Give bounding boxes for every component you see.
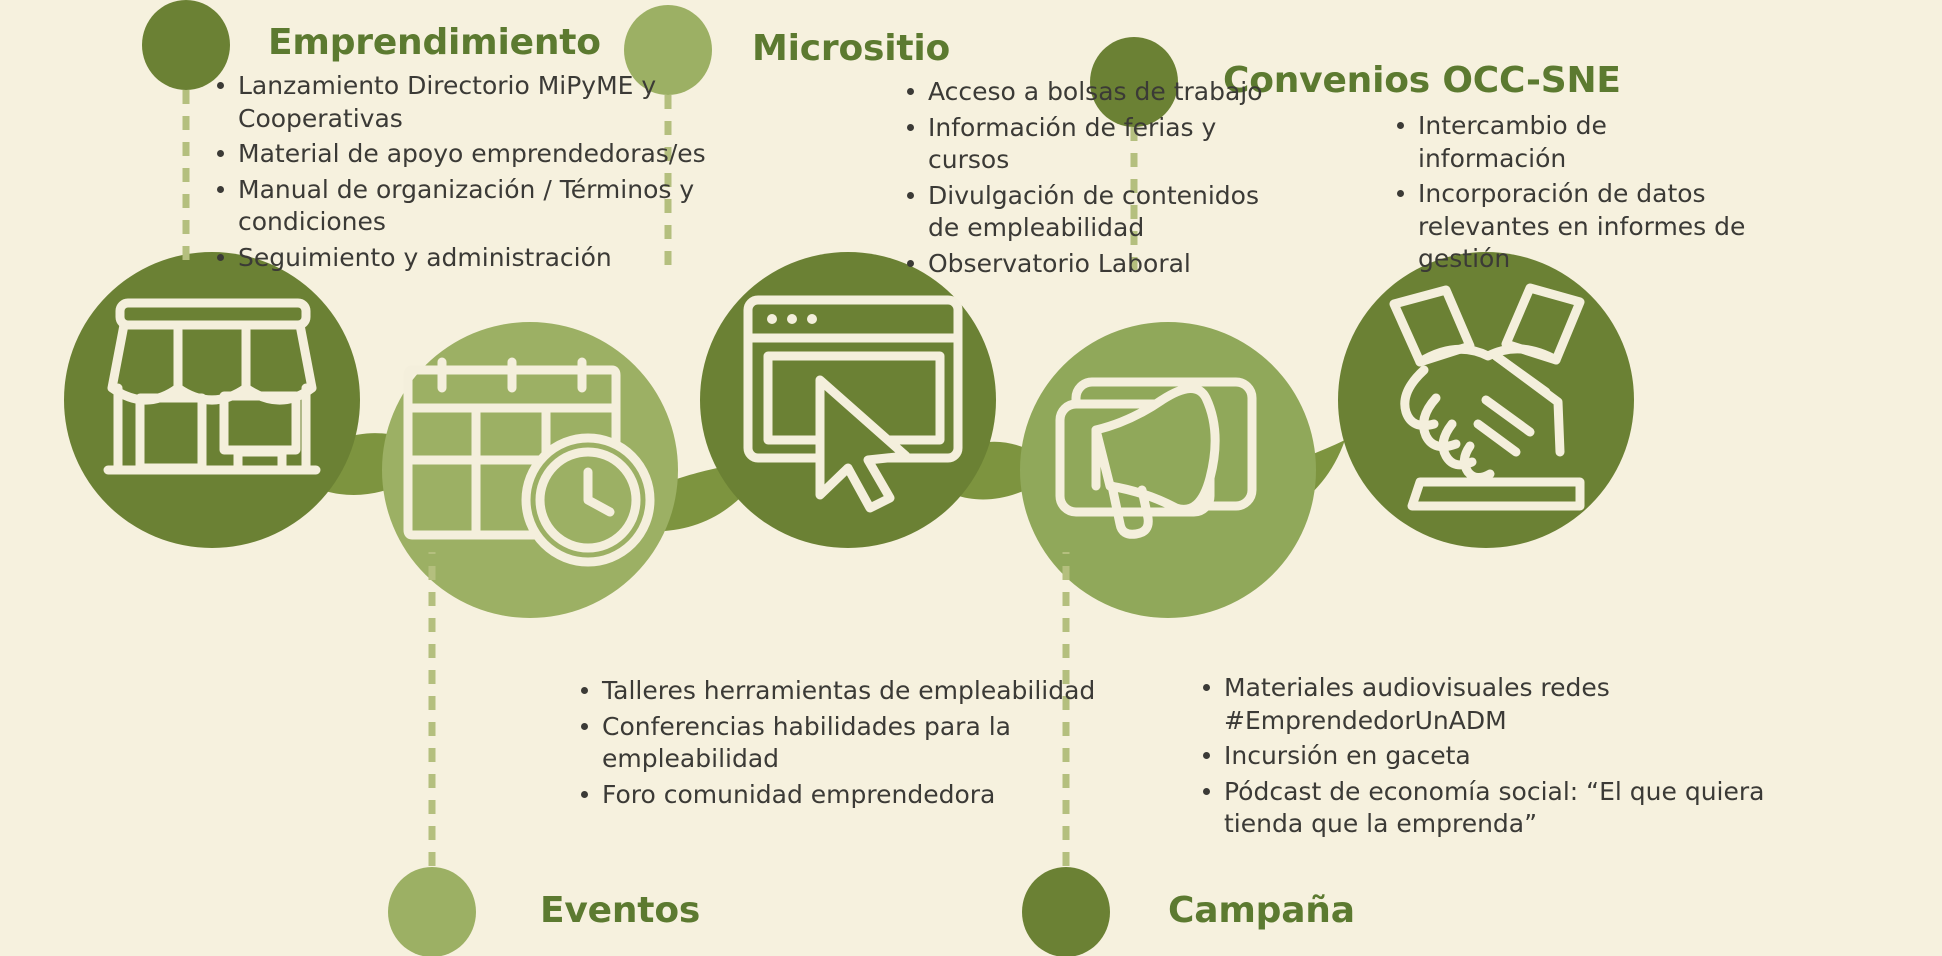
node-title-convenios: Convenios OCC-SNE (1223, 60, 1621, 101)
node-title-campana: Campaña (1168, 890, 1355, 931)
chain-connectors (300, 433, 1345, 531)
list-item: Conferencias habilidades para la empleab… (600, 711, 1174, 776)
circle-campana (1020, 322, 1316, 618)
list-item: Incorporación de datos relevantes en inf… (1416, 178, 1760, 276)
node-title-eventos: Eventos (540, 890, 700, 931)
list-item: Materiales audiovisuales redes #Emprende… (1222, 672, 1796, 737)
list-item: Información de ferias y cursos (926, 112, 1280, 177)
list-item: Intercambio de información (1416, 110, 1760, 175)
browser-cursor-icon (748, 300, 958, 508)
list-item: Foro comunidad emprendedora (600, 779, 1174, 812)
bullet-list-campana: Materiales audiovisuales redes #Emprende… (1196, 672, 1796, 844)
bubble-campana (1022, 867, 1110, 956)
list-item: Material de apoyo emprendedoras/es (236, 138, 770, 171)
handshake-icon (1394, 288, 1580, 506)
list-item: Divulgación de contenidos de empleabilid… (926, 180, 1280, 245)
circle-micrositio (700, 252, 996, 548)
bullet-list-micrositio: Acceso a bolsas de trabajo Información d… (900, 76, 1280, 283)
calendar-clock-icon (408, 362, 650, 562)
list-item: Lanzamiento Directorio MiPyME y Cooperat… (236, 70, 770, 135)
megaphone-icon (1060, 382, 1252, 534)
list-item: Manual de organización / Términos y cond… (236, 174, 770, 239)
circle-eventos (382, 322, 678, 618)
bullet-list-convenios: Intercambio de información Incorporación… (1390, 110, 1760, 279)
list-item: Incursión en gaceta (1222, 740, 1796, 773)
list-item: Pódcast de economía social: “El que quie… (1222, 776, 1796, 841)
list-item: Talleres herramientas de empleabilidad (600, 675, 1174, 708)
circle-emprendimiento (64, 252, 360, 548)
bubble-eventos (388, 867, 476, 956)
list-item: Acceso a bolsas de trabajo (926, 76, 1280, 109)
circle-convenios (1338, 252, 1634, 548)
bullet-list-emprendimiento: Lanzamiento Directorio MiPyME y Cooperat… (210, 70, 770, 277)
list-item: Seguimiento y administración (236, 242, 770, 275)
bullet-list-eventos: Talleres herramientas de empleabilidad C… (574, 675, 1174, 814)
list-item: Observatorio Laboral (926, 248, 1280, 281)
node-title-emprendimiento: Emprendimiento (268, 22, 601, 63)
storefront-icon (108, 303, 316, 470)
node-title-micrositio: Micrositio (752, 28, 950, 69)
infographic-canvas: Emprendimiento Micrositio Convenios OCC-… (0, 0, 1942, 956)
